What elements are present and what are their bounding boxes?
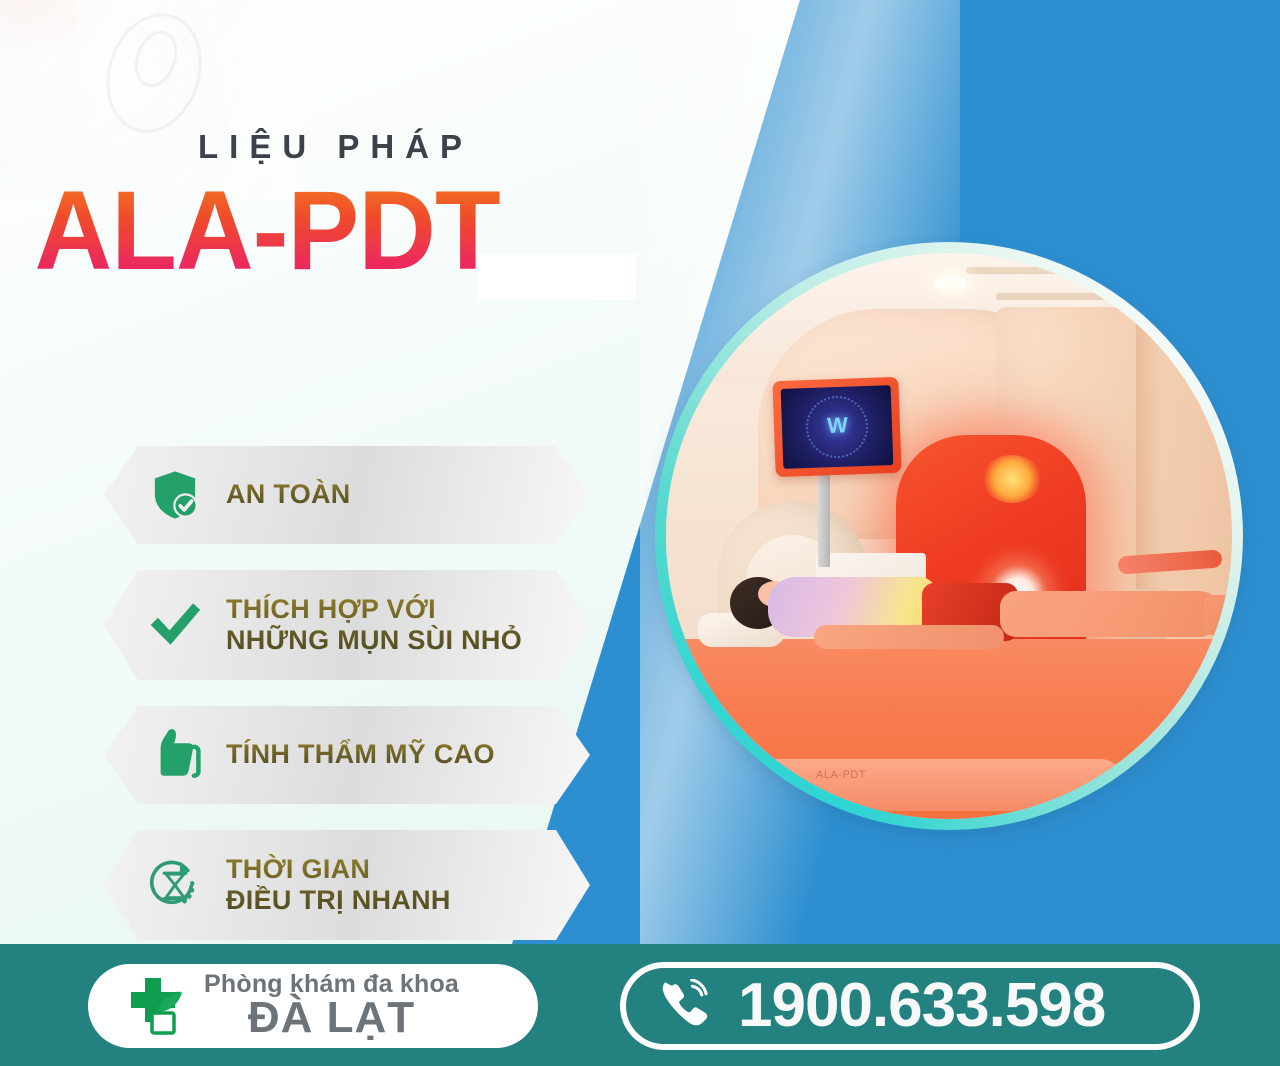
thumbs-up-icon (142, 722, 208, 788)
headline-kicker: LIỆU PHÁP (0, 130, 660, 163)
redacted-block (478, 254, 636, 300)
feature-badge-thich-hop[interactable]: THÍCH HỢP VỚI NHỮNG MỤN SÙI NHỎ (104, 570, 590, 680)
table-skirt (686, 759, 1126, 811)
treatment-photo-circle: W ALA-PDT (655, 242, 1243, 830)
ceiling-panel (996, 293, 1226, 300)
medical-cross-leaf-logo (118, 972, 190, 1040)
monitor-logo-glyph: W (827, 412, 848, 439)
machine-caption: ALA-PDT (816, 769, 866, 781)
feature-badge-thoi-gian[interactable]: THỜI GIAN ĐIỀU TRỊ NHANH (104, 830, 590, 940)
feature-list: AN TOÀN THÍCH HỢP VỚI NHỮNG MỤN SÙI NHỎ … (104, 446, 590, 966)
ceiling-lamp (934, 275, 968, 291)
clinic-name: ĐÀ LẠT (204, 996, 459, 1041)
ceiling-panel (966, 267, 1166, 274)
patient-figure (696, 563, 1216, 655)
headline-block: LIỆU PHÁP ALA-PDT (0, 130, 660, 287)
red-light-glow (982, 455, 1042, 503)
feature-label: TÍNH THẨM MỸ CAO (226, 739, 495, 770)
treatment-photo: W ALA-PDT (666, 253, 1232, 819)
feature-badge-tham-my[interactable]: TÍNH THẨM MỸ CAO (104, 706, 590, 804)
patient-legs (1000, 591, 1222, 637)
machine-monitor: W (772, 377, 901, 477)
phone-cta-button[interactable]: 1900.633.598 (620, 962, 1200, 1050)
patient-arm (814, 625, 1004, 649)
clinic-text: Phòng khám đa khoa ĐÀ LẠT (204, 971, 459, 1040)
clinic-identity-pill[interactable]: Phòng khám đa khoa ĐÀ LẠT (88, 964, 538, 1048)
monitor-arm (818, 471, 830, 567)
patient-foot (1204, 595, 1232, 635)
feature-label: AN TOÀN (226, 479, 351, 510)
feature-badge-an-toan[interactable]: AN TOÀN (104, 446, 590, 544)
feature-label: THỜI GIAN ĐIỀU TRỊ NHANH (226, 854, 451, 917)
shield-check-icon (142, 462, 208, 528)
monitor-screen: W (781, 385, 894, 469)
hourglass-clock-icon (142, 852, 208, 918)
footer-bar: Phòng khám đa khoa ĐÀ LẠT 1900.633.598 (0, 944, 1280, 1066)
promo-banner: LIỆU PHÁP ALA-PDT AN TOÀN THÍCH H (0, 0, 1280, 1066)
feature-label: THÍCH HỢP VỚI NHỮNG MỤN SÙI NHỎ (226, 594, 522, 657)
phone-number: 1900.633.598 (738, 975, 1105, 1037)
check-mark-icon (142, 592, 208, 658)
phone-ringing-icon (658, 977, 716, 1035)
